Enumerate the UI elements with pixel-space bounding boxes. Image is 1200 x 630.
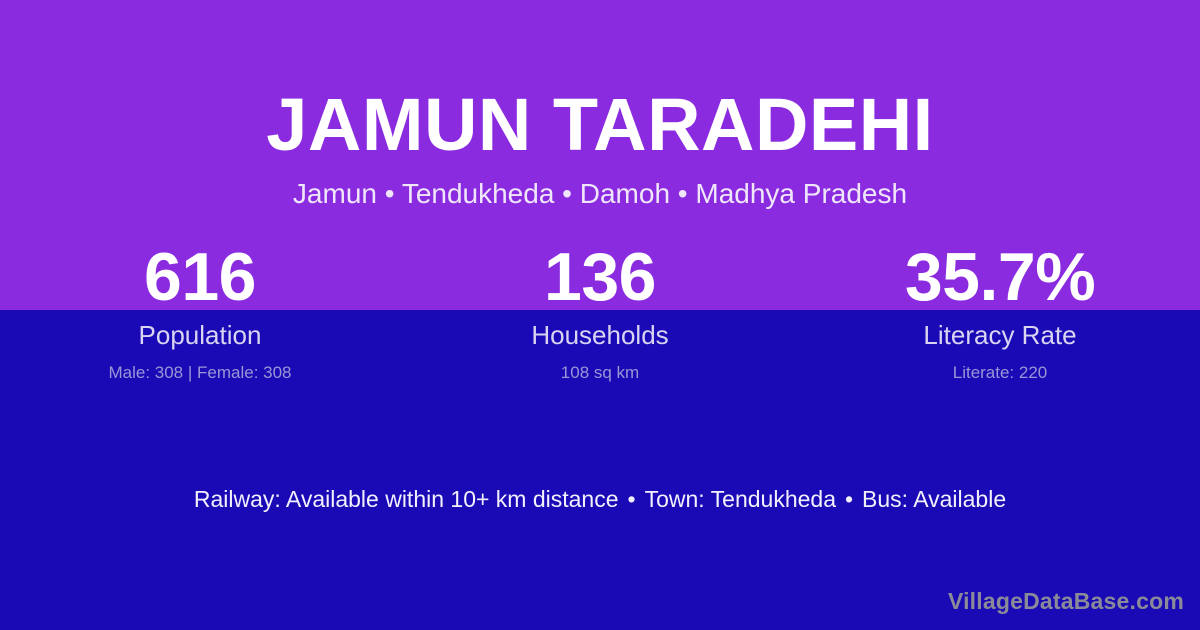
stat-literacy-rate: 35.7% Literacy Rate Literate: 220 bbox=[800, 243, 1200, 384]
amenity-railway: Railway: Available within 10+ km distanc… bbox=[194, 486, 619, 512]
amenity-separator-2: • bbox=[836, 486, 862, 512]
stat-value-literacy-rate: 35.7% bbox=[800, 243, 1200, 311]
stat-value-households: 136 bbox=[400, 243, 800, 311]
stat-label-households: Households bbox=[400, 311, 800, 351]
page-title: JAMUN TARADEHI bbox=[0, 0, 1200, 162]
stat-population: 616 Population Male: 308 | Female: 308 bbox=[0, 243, 400, 384]
breadcrumb: Jamun • Tendukheda • Damoh • Madhya Prad… bbox=[0, 162, 1200, 210]
card-header: JAMUN TARADEHI Jamun • Tendukheda • Damo… bbox=[0, 0, 1200, 210]
stats-row: 616 Population Male: 308 | Female: 308 1… bbox=[0, 243, 1200, 384]
amenities-row: Railway: Available within 10+ km distanc… bbox=[0, 485, 1200, 515]
amenity-separator-1: • bbox=[619, 486, 645, 512]
village-info-card: JAMUN TARADEHI Jamun • Tendukheda • Damo… bbox=[0, 0, 1200, 630]
stat-sub-literacy-rate: Literate: 220 bbox=[800, 351, 1200, 383]
stat-sub-population: Male: 308 | Female: 308 bbox=[0, 351, 400, 383]
stat-label-population: Population bbox=[0, 311, 400, 351]
stat-sub-households: 108 sq km bbox=[400, 351, 800, 383]
amenity-town: Town: Tendukheda bbox=[645, 486, 836, 512]
site-watermark: VillageDataBase.com bbox=[948, 588, 1184, 615]
stat-households: 136 Households 108 sq km bbox=[400, 243, 800, 384]
stat-value-population: 616 bbox=[0, 243, 400, 311]
amenity-bus: Bus: Available bbox=[862, 486, 1006, 512]
stat-label-literacy-rate: Literacy Rate bbox=[800, 311, 1200, 351]
